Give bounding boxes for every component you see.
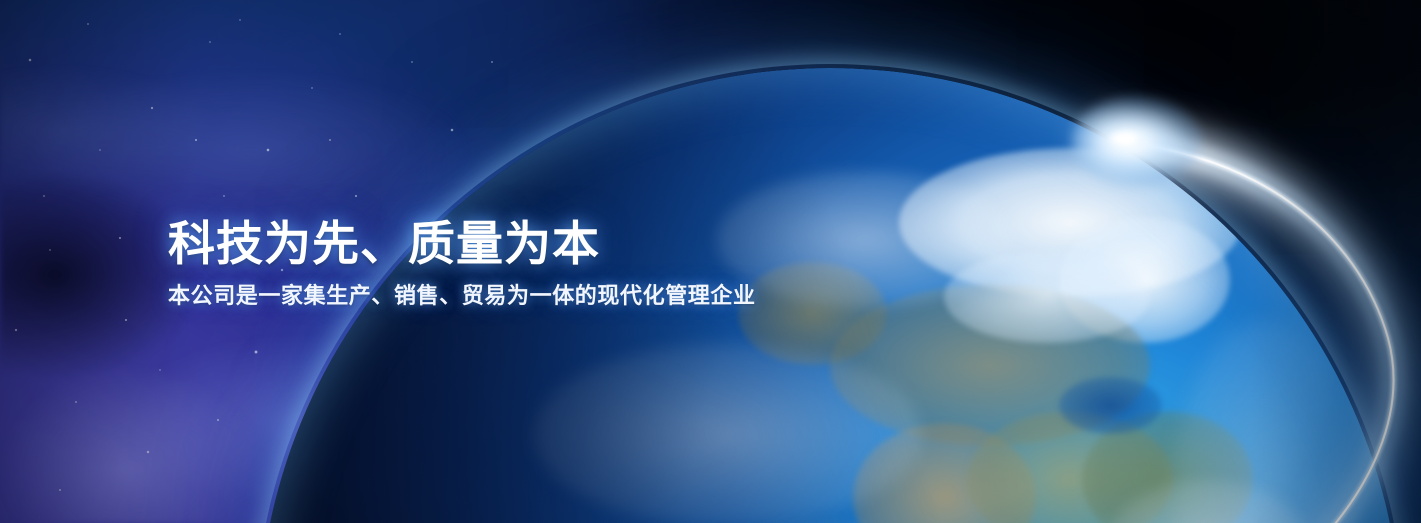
- hero-banner: 科技为先、质量为本 本公司是一家集生产、销售、贸易为一体的现代化管理企业: [0, 0, 1421, 523]
- hero-copy-block: 科技为先、质量为本 本公司是一家集生产、销售、贸易为一体的现代化管理企业: [168, 220, 828, 309]
- page-title: 科技为先、质量为本: [168, 220, 828, 267]
- page-subtitle: 本公司是一家集生产、销售、贸易为一体的现代化管理企业: [168, 283, 828, 309]
